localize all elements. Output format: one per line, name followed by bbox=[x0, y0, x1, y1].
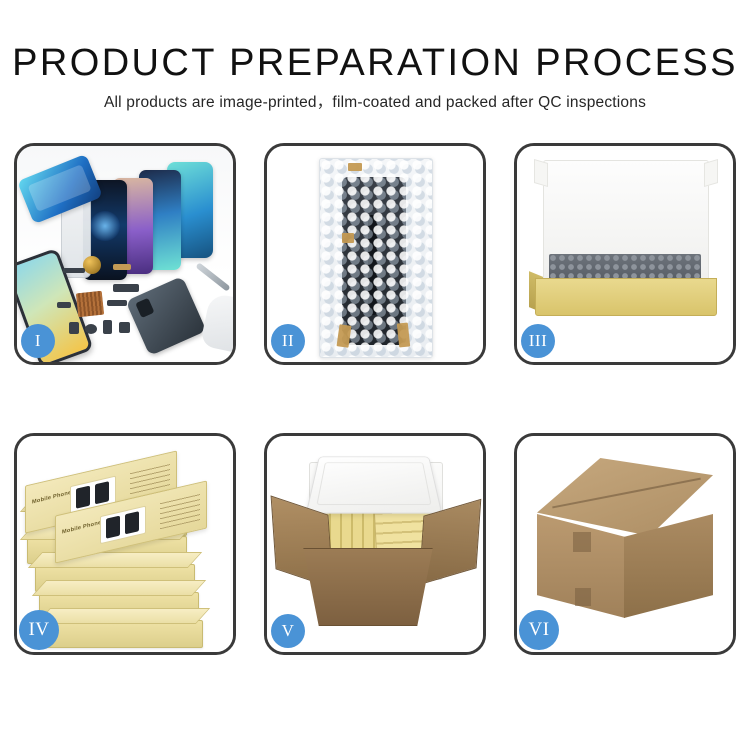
part-strip-2 bbox=[113, 284, 139, 292]
foam-box-lid bbox=[306, 456, 443, 513]
sealed-carton-photo: VI bbox=[517, 436, 733, 652]
part-small-1 bbox=[69, 322, 79, 334]
carton-tab-lower bbox=[575, 588, 591, 606]
process-step-2: II bbox=[264, 143, 486, 365]
step-badge-2: II bbox=[271, 324, 305, 358]
step-badge-4: IV bbox=[19, 610, 59, 650]
product-preparation-infographic: PRODUCT PREPARATION PROCESS All products… bbox=[0, 0, 750, 750]
process-step-6: VI bbox=[514, 433, 736, 655]
stacked-box-1 bbox=[43, 620, 203, 648]
box-stack: Mobile Phone Spare Parts Mobile Phone Sp… bbox=[25, 450, 225, 642]
part-flex-1 bbox=[113, 264, 131, 270]
technician-hand bbox=[200, 292, 233, 354]
header: PRODUCT PREPARATION PROCESS All products… bbox=[0, 0, 750, 112]
process-step-3: III bbox=[514, 143, 736, 365]
tweezers-icon bbox=[195, 262, 230, 291]
page-subtitle: All products are image-printed，film-coat… bbox=[0, 84, 750, 112]
box-front-panel bbox=[535, 278, 717, 316]
part-small-3 bbox=[103, 320, 112, 334]
speaker-component bbox=[83, 256, 101, 274]
bubble-wrap-photo: II bbox=[267, 146, 483, 362]
part-strip-1 bbox=[63, 268, 85, 273]
step-badge-5: V bbox=[271, 614, 305, 648]
bubble-texture bbox=[320, 159, 432, 357]
process-step-1: I bbox=[14, 143, 236, 365]
process-step-4: Mobile Phone Spare Parts Mobile Phone Sp… bbox=[14, 433, 236, 655]
step-badge-6: VI bbox=[519, 610, 559, 650]
step-badge-1: I bbox=[21, 324, 55, 358]
page-title: PRODUCT PREPARATION PROCESS bbox=[0, 0, 750, 84]
part-small-2 bbox=[85, 324, 97, 334]
carton-front-wall bbox=[291, 548, 445, 626]
chip-grid-component bbox=[76, 291, 104, 318]
product-display-photo: I bbox=[17, 146, 233, 362]
bubble-wrap-bag bbox=[319, 158, 433, 358]
step-badge-3: III bbox=[521, 324, 555, 358]
carton-tape-seam bbox=[552, 478, 701, 509]
part-small-4 bbox=[119, 322, 130, 333]
carton-tab-upper bbox=[573, 532, 591, 552]
stacked-boxes-photo: Mobile Phone Spare Parts Mobile Phone Sp… bbox=[17, 436, 233, 652]
part-small-5 bbox=[57, 302, 71, 308]
tape-mid bbox=[342, 233, 354, 243]
process-step-5: V bbox=[264, 433, 486, 655]
carton-loading-photo: V bbox=[267, 436, 483, 652]
process-step-grid: I II bbox=[14, 143, 736, 693]
inner-box-photo: III bbox=[517, 146, 733, 362]
part-small-6 bbox=[107, 300, 127, 306]
tape-bottom-right bbox=[397, 322, 410, 347]
tape-top bbox=[348, 163, 362, 171]
